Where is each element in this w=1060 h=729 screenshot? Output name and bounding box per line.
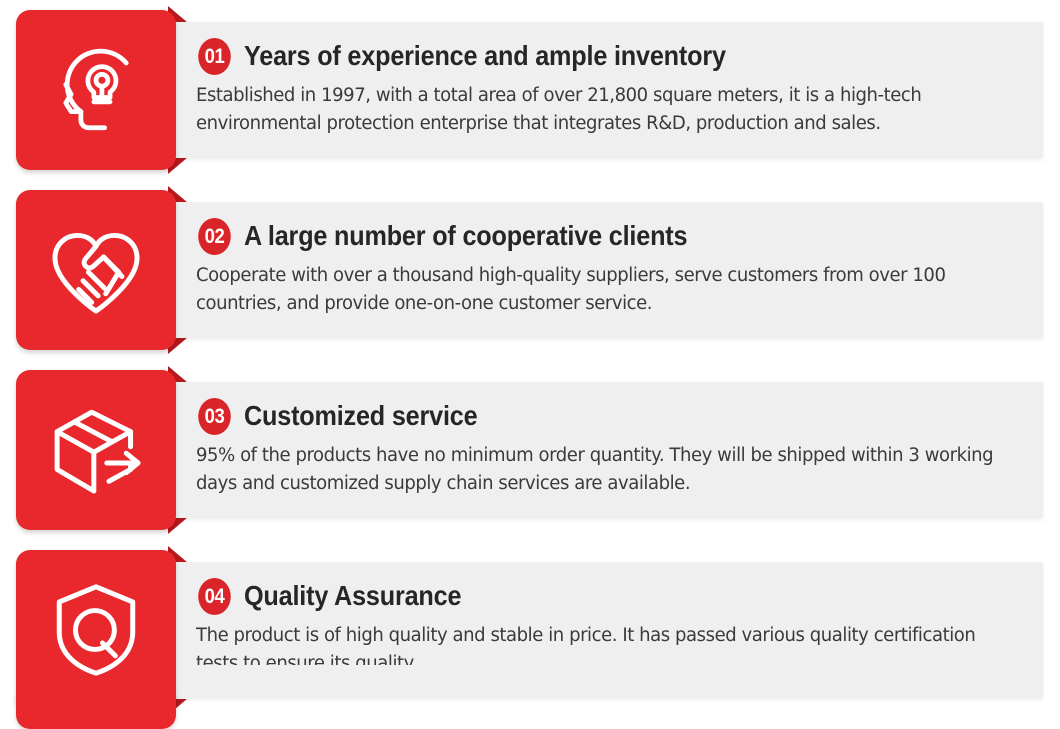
feature-icon-tile [16,10,176,170]
feature-description: Cooperate with over a thousand high-qual… [196,262,1020,318]
feature-icon-tile [16,370,176,530]
feature-row-03: 03 Customized service 95% of the product… [0,360,1060,540]
feature-icon-tile-partial [16,693,176,729]
feature-heading: 04 Quality Assurance [196,576,1025,616]
features-infographic: 01 Years of experience and ample invento… [0,0,1060,729]
feature-description: Established in 1997, with a total area o… [196,82,1020,138]
feature-panel-partial [168,665,1043,699]
feature-number-badge: 02 [198,218,231,255]
feature-title: Years of experience and ample inventory [244,41,726,71]
feature-icon-tile [16,190,176,350]
feature-panel: 01 Years of experience and ample invento… [168,22,1043,158]
feature-description: 95% of the products have no minimum orde… [196,442,1020,498]
feature-row-01: 01 Years of experience and ample invento… [0,0,1060,180]
feature-number-badge: 01 [198,38,231,75]
feature-title: Customized service [244,401,477,431]
feature-number-badge: 04 [198,578,231,615]
feature-row-02: 02 A large number of cooperative clients… [0,180,1060,360]
feature-heading: 01 Years of experience and ample invento… [196,36,1025,76]
heart-handshake-icon [42,216,150,324]
shield-q-icon [42,576,150,684]
feature-number-badge: 03 [198,398,231,435]
head-lightbulb-icon [42,36,150,144]
box-arrow-shipping-icon [42,396,150,504]
feature-panel: 03 Customized service 95% of the product… [168,382,1043,518]
feature-panel: 02 A large number of cooperative clients… [168,202,1043,338]
feature-heading: 03 Customized service [196,396,1025,436]
feature-title: A large number of cooperative clients [244,221,687,251]
feature-icon-tile [16,550,176,710]
feature-heading: 02 A large number of cooperative clients [196,216,1025,256]
feature-title: Quality Assurance [244,581,461,611]
